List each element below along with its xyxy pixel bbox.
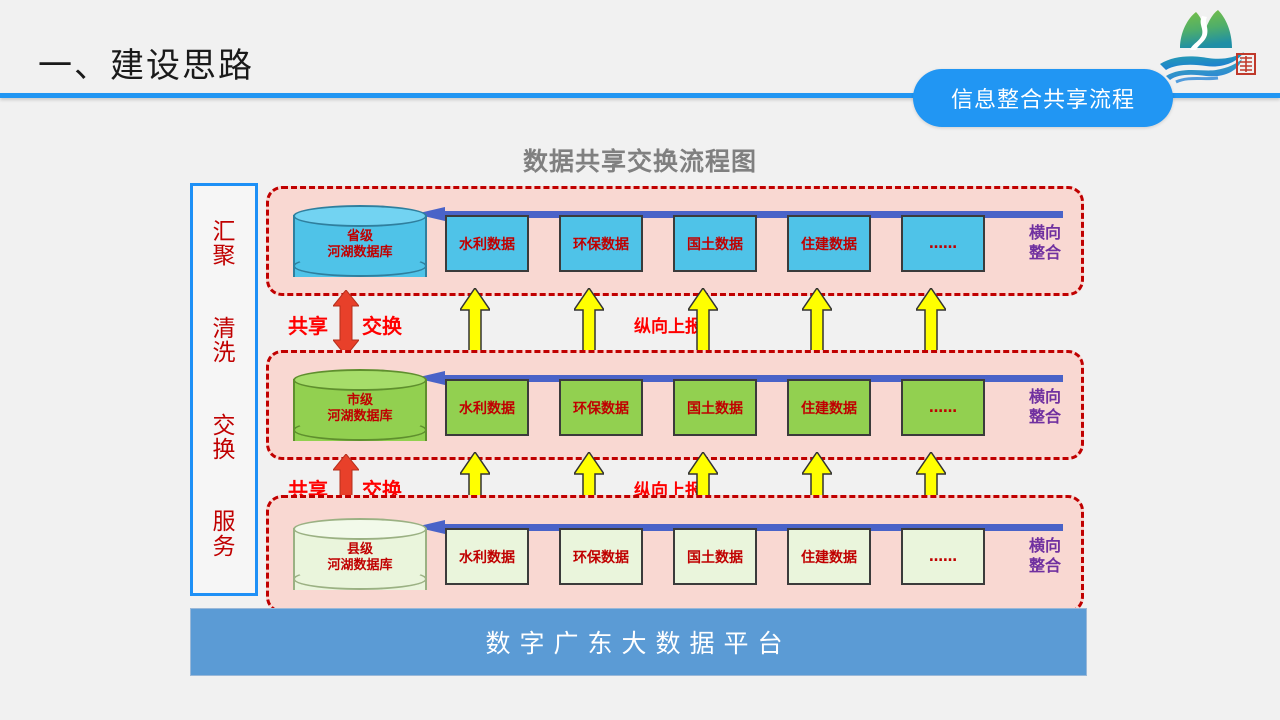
data-box-land[interactable]: 国土数据 [673, 379, 757, 436]
exchange-label-top: 交换 [362, 310, 402, 339]
integration-label-province: 横向 整合 [1021, 223, 1069, 263]
stage-label-exchange: 交换 [209, 414, 239, 462]
stage-label-service: 服务 [209, 510, 239, 558]
data-box-environment[interactable]: 环保数据 [559, 528, 643, 585]
data-box-land[interactable]: 国土数据 [673, 215, 757, 272]
data-box-more[interactable]: …… [901, 528, 985, 585]
diagram-title: 数据共享交换流程图 [0, 142, 1280, 178]
data-box-group-province: 水利数据 环保数据 国土数据 住建数据 …… [445, 215, 985, 272]
database-cylinder-province: 省级 河湖数据库 [293, 205, 427, 285]
integration-label-county: 横向 整合 [1021, 536, 1069, 576]
connector-province-city: 共享 交换 纵向上报 [266, 296, 1084, 350]
integration-label-city: 横向 整合 [1021, 387, 1069, 427]
stage-label-clean: 清洗 [209, 317, 239, 365]
data-box-water[interactable]: 水利数据 [445, 528, 529, 585]
stage-column: 汇聚 清洗 交换 服务 [190, 183, 258, 596]
data-box-water[interactable]: 水利数据 [445, 215, 529, 272]
data-box-group-city: 水利数据 环保数据 国土数据 住建数据 …… [445, 379, 985, 436]
level-band-county: 县级 河湖数据库 水利数据 环保数据 国土数据 住建数据 …… 横向 整合 [266, 495, 1084, 613]
database-cylinder-county: 县级 河湖数据库 [293, 518, 427, 598]
level-band-city: 市级 河湖数据库 水利数据 环保数据 国土数据 住建数据 …… 横向 整合 [266, 350, 1084, 460]
database-label-line1: 省级 [293, 229, 427, 245]
data-box-environment[interactable]: 环保数据 [559, 379, 643, 436]
database-label-line2: 河湖数据库 [293, 558, 427, 574]
share-exchange-double-arrow-top [333, 290, 359, 356]
integration-line1: 横向 [1021, 387, 1069, 407]
data-box-water[interactable]: 水利数据 [445, 379, 529, 436]
data-box-group-county: 水利数据 环保数据 国土数据 住建数据 …… [445, 528, 985, 585]
data-box-housing[interactable]: 住建数据 [787, 528, 871, 585]
data-box-more[interactable]: …… [901, 215, 985, 272]
share-label-top: 共享 [288, 310, 328, 339]
section-badge-label: 信息整合共享流程 [951, 82, 1135, 114]
data-box-housing[interactable]: 住建数据 [787, 379, 871, 436]
data-box-environment[interactable]: 环保数据 [559, 215, 643, 272]
section-badge[interactable]: 信息整合共享流程 [913, 69, 1173, 127]
integration-line1: 横向 [1021, 536, 1069, 556]
data-sharing-flow-diagram: 汇聚 清洗 交换 服务 省级 河湖数据库 水利数据 环保数据 国土数据 住建数据 [190, 183, 1087, 676]
database-label-line1: 市级 [293, 393, 427, 409]
integration-line1: 横向 [1021, 223, 1069, 243]
integration-line2: 整合 [1021, 556, 1069, 576]
river-mountain-logo-icon [1152, 2, 1262, 84]
database-cylinder-city: 市级 河湖数据库 [293, 369, 427, 449]
database-label-line2: 河湖数据库 [293, 245, 427, 261]
data-box-land[interactable]: 国土数据 [673, 528, 757, 585]
integration-line2: 整合 [1021, 407, 1069, 427]
data-box-housing[interactable]: 住建数据 [787, 215, 871, 272]
database-label-line2: 河湖数据库 [293, 409, 427, 425]
stage-label-aggregate: 汇聚 [209, 220, 239, 268]
platform-bar: 数字广东大数据平台 [190, 608, 1087, 676]
platform-bar-label: 数字广东大数据平台 [485, 624, 791, 660]
level-band-province: 省级 河湖数据库 水利数据 环保数据 国土数据 住建数据 …… 横向 整合 [266, 186, 1084, 296]
database-label-line1: 县级 [293, 542, 427, 558]
integration-line2: 整合 [1021, 243, 1069, 263]
page-title: 一、建设思路 [38, 38, 254, 87]
data-box-more[interactable]: …… [901, 379, 985, 436]
